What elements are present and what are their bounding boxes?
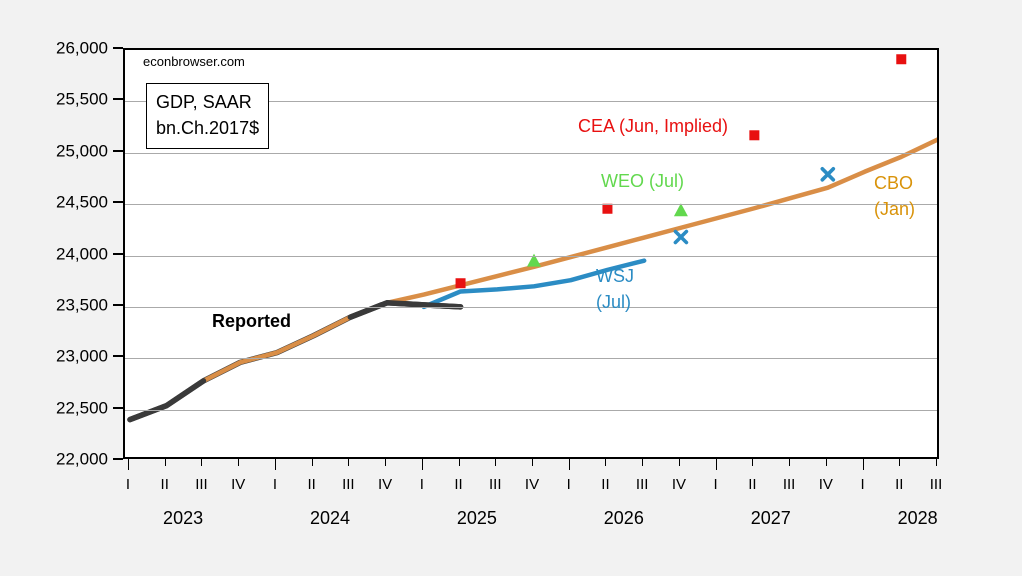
gridline bbox=[125, 256, 937, 257]
series-line bbox=[130, 303, 461, 420]
y-tick-mark bbox=[113, 407, 123, 409]
x-tick-mark bbox=[348, 459, 349, 466]
gridline bbox=[125, 204, 937, 205]
x-tick-mark bbox=[605, 459, 606, 466]
x-tick-mark bbox=[275, 459, 276, 470]
marker-x bbox=[822, 169, 833, 180]
x-quarter-label: II bbox=[601, 476, 609, 493]
x-year-label: 2026 bbox=[604, 508, 644, 529]
annotation-cbo-line-2: (Jan) bbox=[874, 196, 915, 222]
y-tick-label: 26,000 bbox=[56, 40, 108, 57]
x-tick-mark bbox=[422, 459, 423, 470]
annotation-weo: WEO (Jul) bbox=[601, 171, 684, 192]
x-tick-mark bbox=[936, 459, 937, 466]
y-tick-label: 23,000 bbox=[56, 348, 108, 365]
x-year-label: 2025 bbox=[457, 508, 497, 529]
x-quarter-label: IV bbox=[819, 476, 833, 493]
series-line bbox=[130, 139, 937, 419]
x-tick-mark bbox=[789, 459, 790, 466]
x-quarter-label: IV bbox=[231, 476, 245, 493]
x-tick-mark bbox=[679, 459, 680, 466]
y-tick-label: 22,000 bbox=[56, 451, 108, 468]
x-quarter-label: III bbox=[783, 476, 796, 493]
chart-container: 22,00022,50023,00023,50024,00024,50025,0… bbox=[0, 0, 1022, 576]
x-quarter-label: II bbox=[454, 476, 462, 493]
marker-triangle bbox=[674, 203, 688, 216]
x-quarter-label: II bbox=[895, 476, 903, 493]
x-quarter-label: I bbox=[126, 476, 130, 493]
units-line-2: bn.Ch.2017$ bbox=[156, 115, 259, 141]
x-tick-mark bbox=[312, 459, 313, 466]
x-quarter-label: I bbox=[860, 476, 864, 493]
gridline bbox=[125, 153, 937, 154]
x-quarter-label: II bbox=[161, 476, 169, 493]
x-tick-mark bbox=[495, 459, 496, 466]
annotation-reported: Reported bbox=[212, 311, 291, 332]
x-quarter-label: IV bbox=[525, 476, 539, 493]
x-tick-mark bbox=[201, 459, 202, 466]
x-tick-mark bbox=[532, 459, 533, 466]
x-year-label: 2028 bbox=[898, 508, 938, 529]
y-tick-mark bbox=[113, 47, 123, 49]
x-quarter-label: II bbox=[307, 476, 315, 493]
x-tick-mark bbox=[863, 459, 864, 470]
annotation-cea: CEA (Jun, Implied) bbox=[578, 116, 728, 137]
x-quarter-label: III bbox=[342, 476, 355, 493]
annotation-cbo-line-1: CBO bbox=[874, 170, 915, 196]
units-legend-box: GDP, SAAR bn.Ch.2017$ bbox=[146, 83, 269, 149]
x-quarter-label: III bbox=[636, 476, 649, 493]
gridline bbox=[125, 410, 937, 411]
watermark-label: econbrowser.com bbox=[143, 54, 245, 69]
annotation-wsj-line-2: (Jul) bbox=[596, 289, 634, 315]
x-tick-mark bbox=[642, 459, 643, 466]
x-tick-mark bbox=[385, 459, 386, 466]
marker-square bbox=[896, 54, 906, 64]
y-tick-label: 25,500 bbox=[56, 91, 108, 108]
x-quarter-label: I bbox=[420, 476, 424, 493]
x-tick-mark bbox=[716, 459, 717, 470]
y-tick-label: 24,500 bbox=[56, 194, 108, 211]
y-axis: 22,00022,50023,00023,50024,00024,50025,0… bbox=[0, 0, 108, 576]
x-quarter-label: I bbox=[567, 476, 571, 493]
y-tick-mark bbox=[113, 201, 123, 203]
series-line bbox=[130, 381, 203, 420]
marker-square bbox=[456, 278, 466, 288]
x-quarter-label: II bbox=[748, 476, 756, 493]
x-tick-mark bbox=[899, 459, 900, 466]
y-tick-mark bbox=[113, 355, 123, 357]
y-tick-label: 23,500 bbox=[56, 296, 108, 313]
y-tick-mark bbox=[113, 98, 123, 100]
x-year-label: 2027 bbox=[751, 508, 791, 529]
x-quarter-label: III bbox=[930, 476, 943, 493]
x-quarter-label: III bbox=[195, 476, 208, 493]
gridline bbox=[125, 358, 937, 359]
x-tick-mark bbox=[238, 459, 239, 466]
y-tick-mark bbox=[113, 150, 123, 152]
annotation-wsj: WSJ (Jul) bbox=[596, 263, 634, 315]
annotation-cbo: CBO (Jan) bbox=[874, 170, 915, 222]
x-quarter-label: IV bbox=[672, 476, 686, 493]
annotation-wsj-line-1: WSJ bbox=[596, 263, 634, 289]
x-tick-mark bbox=[165, 459, 166, 466]
x-quarter-label: I bbox=[714, 476, 718, 493]
gridline bbox=[125, 307, 937, 308]
y-tick-mark bbox=[113, 304, 123, 306]
marker-square bbox=[749, 130, 759, 140]
x-tick-mark bbox=[459, 459, 460, 466]
x-year-label: 2024 bbox=[310, 508, 350, 529]
marker-square bbox=[602, 204, 612, 214]
marker-x bbox=[675, 232, 686, 243]
x-quarter-label: I bbox=[273, 476, 277, 493]
y-tick-mark bbox=[113, 253, 123, 255]
x-tick-mark bbox=[826, 459, 827, 466]
x-tick-mark bbox=[128, 459, 129, 470]
y-tick-label: 22,500 bbox=[56, 399, 108, 416]
units-line-1: GDP, SAAR bbox=[156, 89, 259, 115]
x-quarter-label: IV bbox=[378, 476, 392, 493]
series-line bbox=[350, 303, 460, 317]
y-tick-label: 24,000 bbox=[56, 245, 108, 262]
x-tick-mark bbox=[569, 459, 570, 470]
y-tick-mark bbox=[113, 458, 123, 460]
y-tick-label: 25,000 bbox=[56, 142, 108, 159]
x-tick-mark bbox=[752, 459, 753, 466]
x-year-label: 2023 bbox=[163, 508, 203, 529]
x-quarter-label: III bbox=[489, 476, 502, 493]
